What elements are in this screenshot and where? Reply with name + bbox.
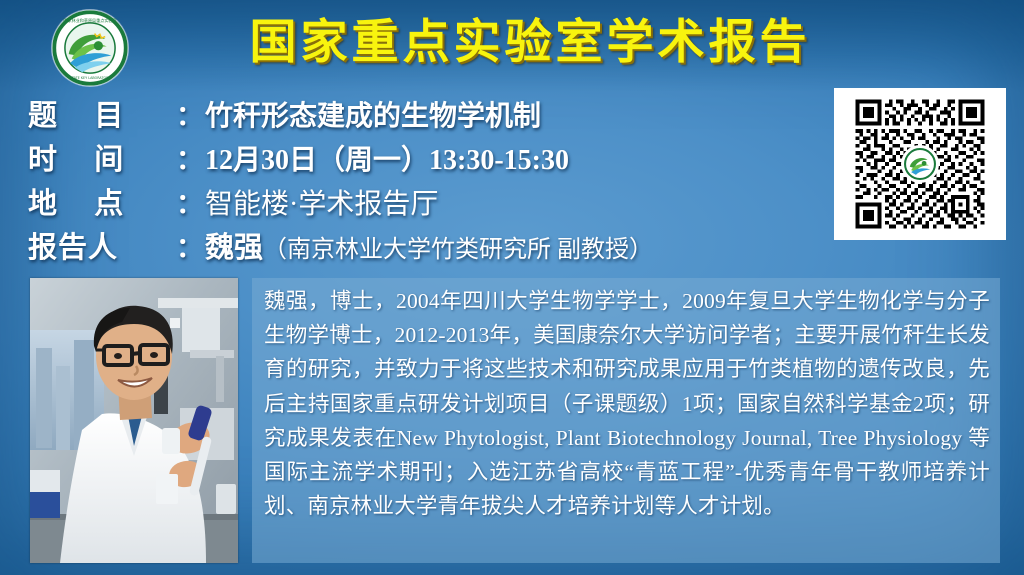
seminar-poster: 国家林业和草原局重点实验室 STATE KEY LABORATORY 国家重点实… — [0, 0, 1024, 575]
info-colon-time: ： — [176, 138, 203, 177]
info-label-time: 时 间 — [28, 136, 176, 178]
speaker-photo — [30, 278, 238, 563]
poster-header: 国家林业和草原局重点实验室 STATE KEY LABORATORY 国家重点实… — [0, 0, 1024, 88]
event-info-block: 题 目 ： 竹秆形态建成的生物学机制 时 间 ： 12月30日（周一）13:30… — [28, 92, 828, 268]
info-value-topic: 竹秆形态建成的生物学机制 — [205, 94, 541, 134]
speaker-bio-panel: 魏强，博士，2004年四川大学生物学学士，2009年复旦大学生物化学与分子生物学… — [252, 278, 1000, 563]
qr-code-image — [852, 96, 988, 232]
info-label-location: 地 点 — [28, 180, 176, 222]
speaker-name: 魏强 — [205, 232, 263, 264]
info-row-topic: 题 目 ： 竹秆形态建成的生物学机制 — [28, 92, 828, 136]
info-value-time: 12月30日（周一）13:30-15:30 — [205, 138, 569, 178]
state-key-laboratory-logo-icon: 国家林业和草原局重点实验室 STATE KEY LABORATORY — [52, 10, 128, 86]
info-colon-topic: ： — [176, 94, 203, 133]
info-label-speaker: 报告人 — [28, 224, 176, 266]
qr-center-logo-icon — [903, 147, 937, 181]
info-value-location: 智能楼·学术报告厅 — [205, 182, 438, 222]
info-colon-speaker: ： — [176, 226, 203, 265]
info-label-topic: 题 目 — [28, 92, 176, 134]
info-value-speaker: 魏强（南京林业大学竹类研究所 副教授） — [205, 224, 653, 266]
page-title: 国家重点实验室学术报告 — [150, 14, 910, 70]
info-row-location: 地 点 ： 智能楼·学术报告厅 — [28, 180, 828, 224]
speaker-bio-text: 魏强，博士，2004年四川大学生物学学士，2009年复旦大学生物化学与分子生物学… — [264, 284, 990, 523]
speaker-section: 魏强，博士，2004年四川大学生物学学士，2009年复旦大学生物化学与分子生物学… — [30, 278, 1000, 568]
speaker-affiliation: （南京林业大学竹类研究所 副教授） — [263, 237, 653, 263]
qr-code[interactable] — [834, 88, 1006, 240]
info-row-time: 时 间 ： 12月30日（周一）13:30-15:30 — [28, 136, 828, 180]
info-colon-location: ： — [176, 182, 203, 221]
svg-text:STATE KEY LABORATORY: STATE KEY LABORATORY — [70, 76, 111, 80]
info-row-speaker: 报告人 ： 魏强（南京林业大学竹类研究所 副教授） — [28, 224, 828, 268]
svg-text:国家林业和草原局重点实验室: 国家林业和草原局重点实验室 — [63, 17, 116, 23]
